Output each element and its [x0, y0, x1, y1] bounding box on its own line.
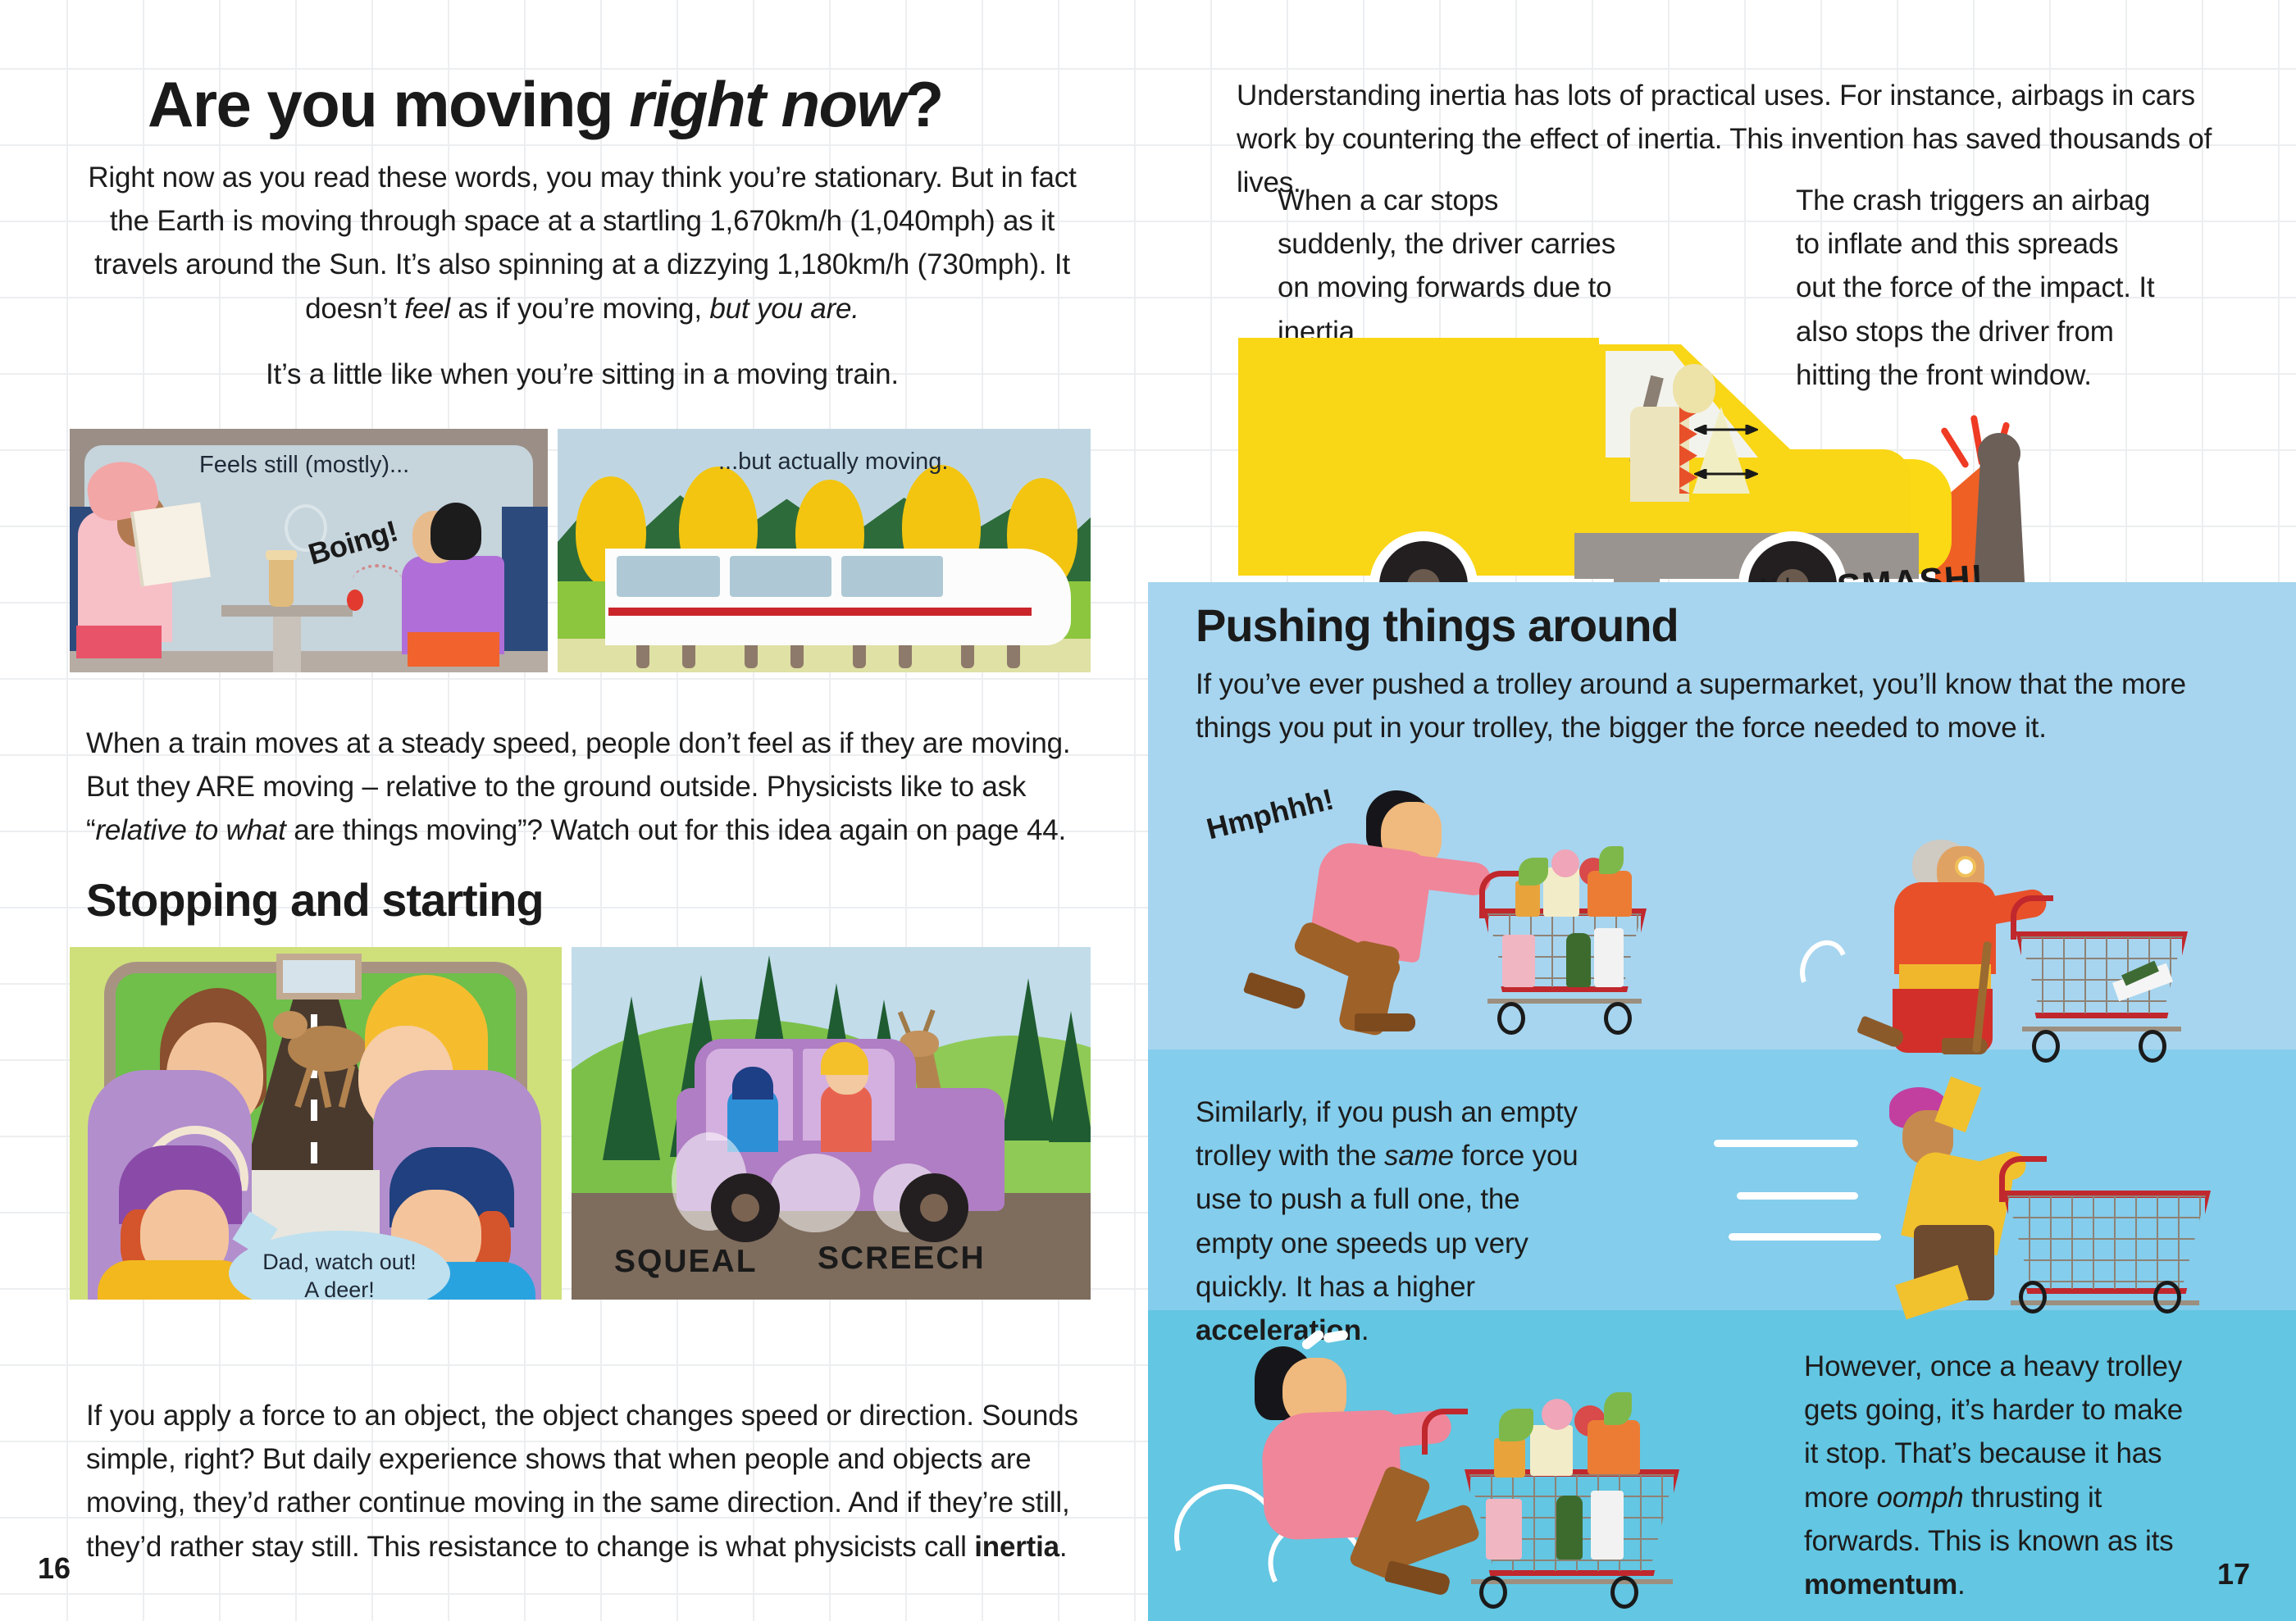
grocery-item [1515, 881, 1540, 917]
however-paragraph: However, once a heavy trolley gets going… [1804, 1345, 2189, 1606]
deer-head [273, 1011, 307, 1039]
grocery-item [1551, 849, 1579, 877]
rail-support [636, 645, 649, 668]
grocery-bag [1588, 1420, 1640, 1474]
heading-pushing-things-around: Pushing things around [1196, 599, 1679, 652]
speech-bubble-text: Dad, watch out! A deer! [229, 1249, 450, 1300]
newspaper [130, 502, 211, 586]
page-title-part3: ? [905, 68, 943, 140]
passenger-boy-hair [430, 503, 481, 560]
grocery-leaf [1499, 1409, 1533, 1441]
trolley-wheel [1604, 1002, 1632, 1035]
glasses-icon [1955, 856, 1976, 877]
grocery-item [1502, 935, 1535, 987]
page-title-part1: Are you moving [148, 68, 629, 140]
grocery-carton [1594, 928, 1624, 987]
illustration-man-full-trolley: Hmphhh! [1205, 779, 1714, 1025]
right-page: Understanding inertia has lots of practi… [1148, 0, 2296, 1621]
man-shoe-back [1243, 972, 1307, 1011]
grocery-leaf [1599, 846, 1624, 874]
passenger-boy-shorts [408, 632, 499, 667]
train-table-leg [273, 617, 301, 672]
heading-stopping-and-starting: Stopping and starting [86, 873, 544, 927]
grocery-item [1486, 1499, 1522, 1560]
grocery-bottle [1566, 933, 1591, 987]
motion-squiggle [1793, 934, 1856, 1004]
speed-line [1737, 1192, 1858, 1200]
train-window [730, 556, 831, 597]
sfx-screech: SCREECH [818, 1241, 986, 1277]
trolley-wheel [1479, 1576, 1507, 1609]
rail-support [682, 645, 695, 668]
car-figure: Dad, watch out! A deer! [70, 947, 1091, 1300]
page-number-right: 17 [2217, 1557, 2250, 1591]
illustration-heavy-trolley-momentum [1186, 1330, 1760, 1609]
grocery-item [1494, 1438, 1525, 1478]
trolley-wheel [2139, 1030, 2166, 1063]
book-spread: Are you moving right now? Right now as y… [0, 0, 2296, 1621]
pushing-things-panel: Pushing things around If you’ve ever pus… [1148, 582, 2296, 1621]
caption-car-stops-suddenly: When a car stops suddenly, the driver ca… [1278, 179, 1622, 353]
grocery-leaf [1604, 1392, 1632, 1425]
coffee-cup-lid [266, 550, 297, 560]
train-seat-right [502, 507, 548, 672]
illustration-train-exterior: ...but actually moving. [558, 429, 1091, 672]
trolley-wheel [2019, 1281, 2047, 1314]
passenger-woman-skirt [76, 626, 162, 658]
sfx-squeal: SQUEAL [614, 1244, 758, 1280]
page-title-emphasis: right now [629, 68, 905, 140]
grocery-leaf [1519, 858, 1548, 886]
rail-support [961, 645, 974, 668]
speed-line [1729, 1233, 1881, 1241]
sfx-hmphhh: Hmphhh! [1203, 782, 1337, 847]
caption-feels-still: Feels still (mostly)... [199, 452, 409, 479]
trolley-handle [1422, 1409, 1468, 1455]
double-arrow-icon [1694, 469, 1758, 479]
grocery-item [1530, 1425, 1573, 1476]
tyre-hub [920, 1194, 948, 1222]
rail-support [1007, 645, 1020, 668]
train-lead-paragraph: It’s a little like when you’re sitting i… [86, 353, 1078, 396]
dust-cloud [770, 1154, 860, 1232]
speed-line [1714, 1140, 1858, 1147]
train-stripe [608, 608, 1032, 616]
trolley-wheel [1497, 1002, 1525, 1035]
force-paragraph: If you apply a force to an object, the o… [86, 1394, 1103, 1569]
grocery-item [1542, 1399, 1573, 1430]
tyre-hub [731, 1194, 759, 1222]
illustration-car-exterior: SQUEAL SCREECH [572, 947, 1091, 1300]
illustration-woman-empty-trolley [1796, 828, 2255, 1033]
similarly-paragraph: Similarly, if you push an empty trolley … [1196, 1091, 1589, 1352]
caption-actually-moving: ...but actually moving. [718, 449, 948, 476]
trolley-wheel [1610, 1576, 1638, 1609]
train-paragraph: When a train moves at a steady speed, pe… [86, 722, 1086, 853]
grocery-bottle [1556, 1496, 1583, 1560]
speech-line-1: Dad, watch out! [229, 1249, 450, 1277]
coffee-cup [269, 556, 294, 607]
train-figure: Boing! Feels still (mostly)... [70, 429, 1091, 672]
grocery-carton [1591, 1491, 1624, 1560]
left-page: Are you moving right now? Right now as y… [0, 0, 1148, 1621]
bouncing-ball [347, 590, 363, 611]
illustration-speeding-empty-trolley [1714, 1081, 2222, 1310]
adult-in-car-red [821, 1085, 872, 1152]
rail-support [745, 645, 758, 668]
rear-view-mirror [276, 954, 362, 999]
illustration-car-interior: Dad, watch out! A deer! [70, 947, 562, 1300]
intro-paragraph: Right now as you read these words, you m… [86, 156, 1078, 330]
rail-support [853, 645, 866, 668]
speech-line-2: A deer! [229, 1277, 450, 1300]
grocery-bag [1588, 871, 1632, 917]
train-table [221, 605, 353, 617]
page-title: Are you moving right now? [148, 67, 943, 142]
surprise-mark [1323, 1329, 1349, 1343]
train-window [841, 556, 943, 597]
pushing-paragraph: If you’ve ever pushed a trolley around a… [1196, 663, 2221, 749]
trolley-wheel [2032, 1030, 2060, 1063]
man-shoe-front [1355, 1013, 1415, 1031]
rider-hand-raised [1934, 1077, 1981, 1132]
illustration-truck-crash: Airbag SMASH! SMASH! [1214, 328, 2296, 599]
driver-head [1673, 364, 1715, 413]
illustration-train-interior: Boing! Feels still (mostly)... [70, 429, 548, 672]
lamp-post-top [1978, 433, 2020, 474]
page-number-left: 16 [38, 1551, 71, 1586]
surprise-mark [1300, 1328, 1325, 1351]
train-window [617, 556, 720, 597]
rail-support [790, 645, 804, 668]
spark [1940, 426, 1970, 469]
trolley-mesh [2007, 1195, 2206, 1289]
rail-support [899, 645, 912, 668]
double-arrow-icon [1694, 425, 1758, 435]
trolley-wheel [2153, 1281, 2181, 1314]
woman-coat [1894, 882, 1996, 974]
child-hat-blue [732, 1067, 773, 1100]
man-shoe [1384, 1560, 1451, 1596]
